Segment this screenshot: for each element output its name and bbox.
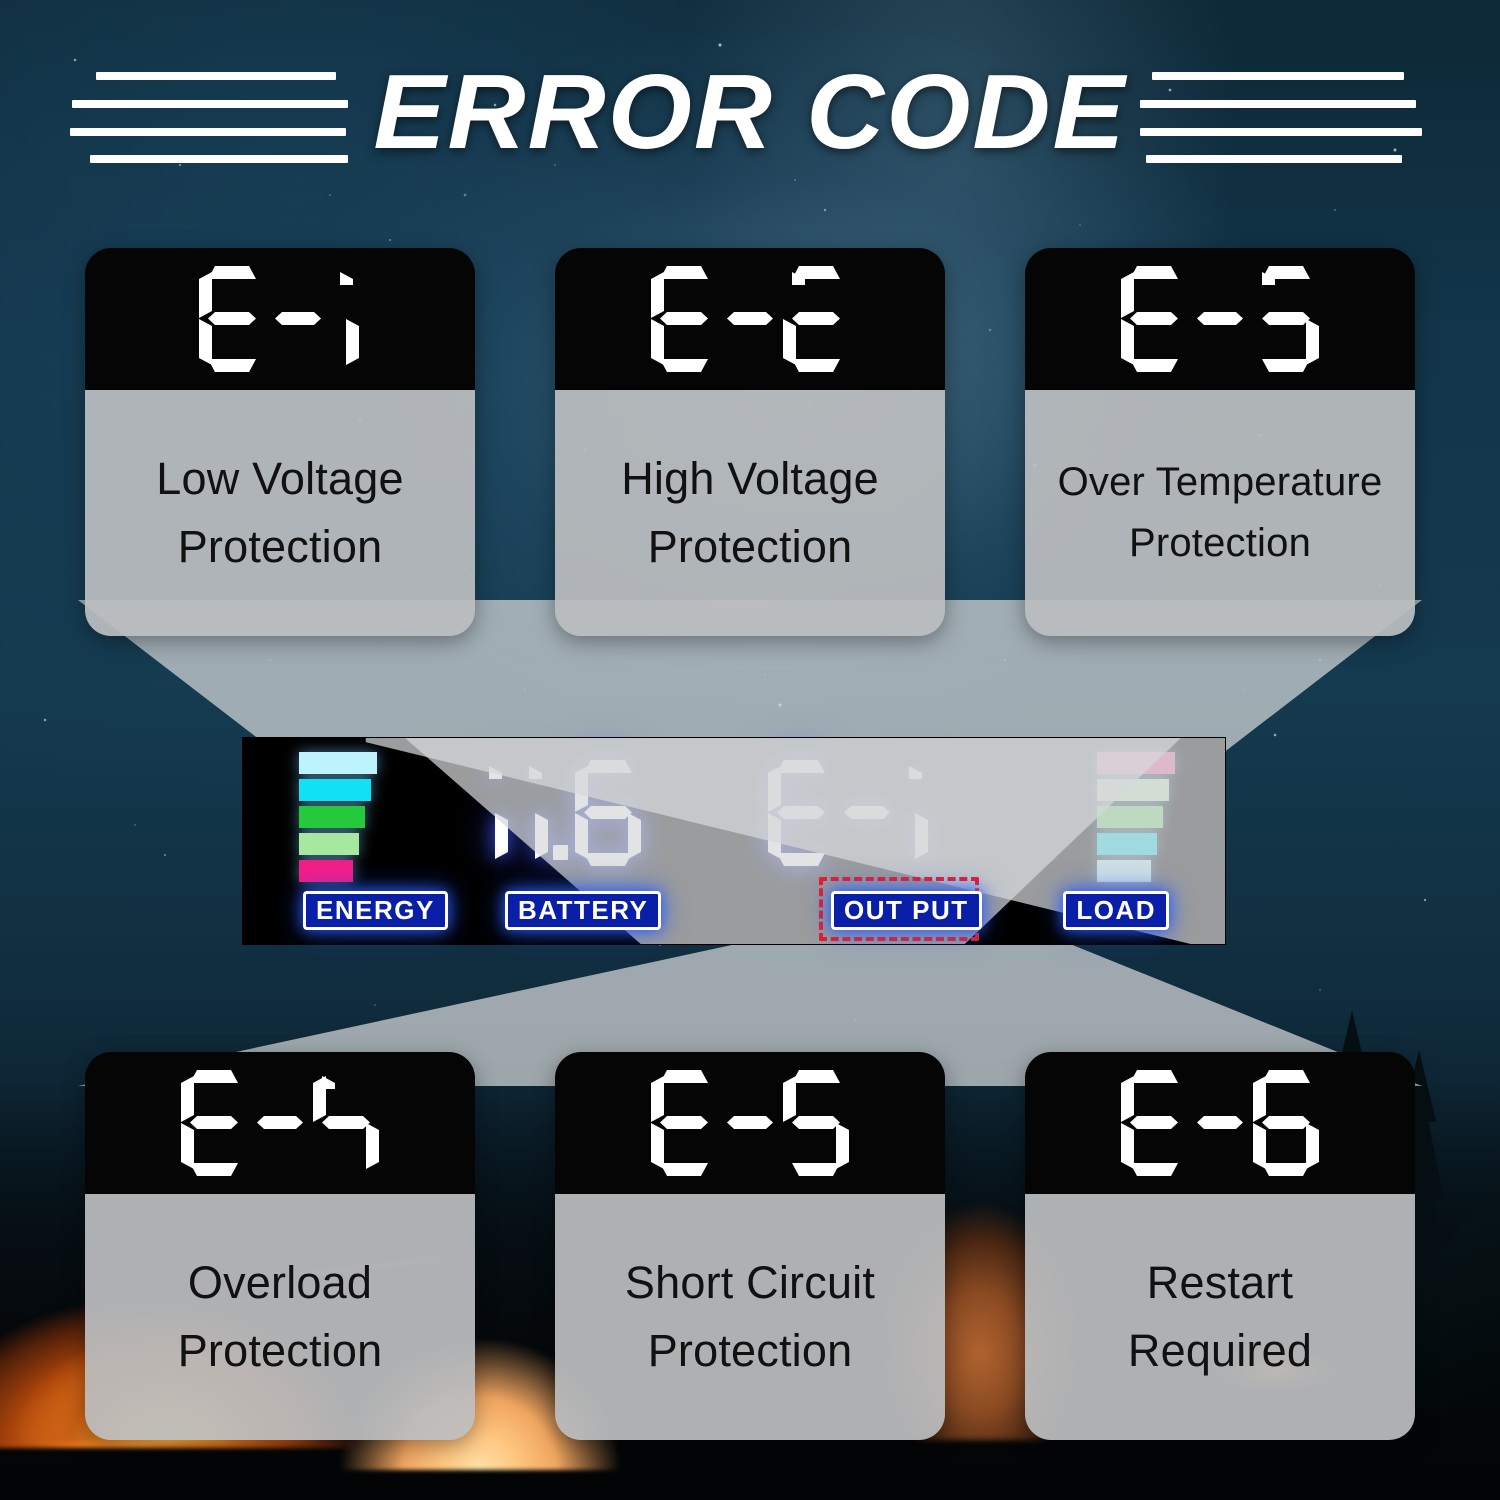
seven-segment-digit-e — [651, 1070, 717, 1176]
seven-segment-digit-dash — [275, 266, 321, 372]
load-bar — [1097, 752, 1175, 882]
error-card-description: RestartRequired — [1025, 1194, 1415, 1440]
error-card-e-6[interactable]: RestartRequired — [1025, 1052, 1415, 1440]
error-code-digits — [176, 1070, 384, 1176]
error-card-description: Short CircuitProtection — [555, 1194, 945, 1440]
error-code-digits — [194, 266, 366, 372]
error-card-line-2: Protection — [648, 1325, 853, 1377]
error-card-row-bottom: OverloadProtectionShort CircuitProtectio… — [0, 1052, 1500, 1440]
seven-segment-digit-e — [181, 1070, 247, 1176]
energy-indicator — [299, 752, 377, 882]
error-card-line-2: Protection — [178, 1325, 383, 1377]
load-bar-segment — [1097, 779, 1169, 801]
seven-segment-digit-e — [1121, 266, 1187, 372]
output-label: OUT PUT — [831, 891, 982, 930]
load-label: LOAD — [1063, 891, 1169, 930]
energy-bar-segment — [299, 860, 353, 882]
error-code-display — [555, 248, 945, 390]
seven-segment-digit-2 — [783, 266, 849, 372]
battery-label-wrap: BATTERY — [505, 891, 661, 930]
seven-segment-digit-e — [768, 760, 834, 866]
error-card-e-2[interactable]: High VoltageProtection — [555, 248, 945, 636]
error-code-digits — [1116, 1070, 1324, 1176]
battery-label: BATTERY — [505, 891, 661, 930]
page-title: ERROR CODE — [0, 52, 1500, 172]
load-bar-segment — [1097, 752, 1175, 774]
seven-segment-digit-1 — [480, 760, 510, 866]
output-error-readout — [763, 760, 935, 866]
error-card-line-2: Protection — [1129, 521, 1311, 566]
seven-segment-digit-dash — [257, 1070, 303, 1176]
seven-segment-digit-dash — [844, 760, 890, 866]
error-card-e-4[interactable]: OverloadProtection — [85, 1052, 475, 1440]
error-card-line-2: Protection — [178, 521, 383, 573]
seven-segment-digit-6 — [1253, 1070, 1319, 1176]
lcd-label-row: ENERGY BATTERY OUT PUT LOAD — [243, 888, 1225, 930]
seven-segment-digit-dash — [727, 1070, 773, 1176]
energy-label: ENERGY — [303, 891, 448, 930]
error-card-row-top: Low VoltageProtectionHigh VoltageProtect… — [0, 248, 1500, 636]
output-label-wrap: OUT PUT — [831, 891, 982, 930]
error-card-line-1: Over Temperature — [1058, 460, 1383, 505]
seven-segment-digit-1 — [900, 760, 930, 866]
header-banner: ERROR CODE — [0, 58, 1500, 176]
error-card-line-2: Protection — [648, 521, 853, 573]
seven-segment-digit-e — [1121, 1070, 1187, 1176]
error-code-display — [1025, 1052, 1415, 1194]
error-card-description: OverloadProtection — [85, 1194, 475, 1440]
energy-bar-segment — [299, 833, 359, 855]
error-card-description: High VoltageProtection — [555, 390, 945, 636]
seven-segment-digit-e — [651, 266, 717, 372]
load-bar-segment — [1097, 806, 1163, 828]
error-card-e-3[interactable]: Over TemperatureProtection — [1025, 248, 1415, 636]
energy-bar-segment — [299, 752, 377, 774]
error-code-display — [85, 1052, 475, 1194]
error-card-line-1: Short Circuit — [625, 1257, 875, 1309]
seven-segment-digit-4 — [313, 1070, 379, 1176]
error-card-e-1[interactable]: Low VoltageProtection — [85, 248, 475, 636]
load-label-wrap: LOAD — [1063, 891, 1169, 930]
load-bar-segment — [1097, 860, 1151, 882]
seven-segment-digit-1 — [331, 266, 361, 372]
load-indicator — [1097, 752, 1175, 882]
error-card-description: Over TemperatureProtection — [1025, 390, 1415, 636]
seven-segment-digit-e — [199, 266, 265, 372]
error-card-line-1: Overload — [188, 1257, 372, 1309]
energy-bar — [299, 752, 377, 882]
seven-segment-digit-5 — [783, 1070, 849, 1176]
error-code-display — [1025, 248, 1415, 390]
energy-bar-segment — [299, 806, 365, 828]
error-card-line-1: High Voltage — [621, 453, 879, 505]
error-code-digits — [646, 1070, 854, 1176]
lcd-display-panel: ENERGY BATTERY OUT PUT LOAD — [243, 738, 1225, 944]
seven-segment-digit-dash — [1197, 1070, 1243, 1176]
seven-segment-digit-3 — [1253, 266, 1319, 372]
battery-voltage-readout — [475, 760, 646, 866]
energy-label-wrap: ENERGY — [303, 891, 448, 930]
error-code-display — [555, 1052, 945, 1194]
error-card-line-2: Required — [1128, 1325, 1312, 1377]
error-card-line-1: Low Voltage — [156, 453, 403, 505]
seven-segment-digit-6 — [575, 760, 641, 866]
error-code-display — [85, 248, 475, 390]
error-code-digits — [646, 266, 854, 372]
energy-bar-segment — [299, 779, 371, 801]
load-bar-segment — [1097, 833, 1157, 855]
seven-segment-digit-dash — [727, 266, 773, 372]
seven-segment-digit-dash — [1197, 266, 1243, 372]
error-code-digits — [1116, 266, 1324, 372]
decimal-point — [553, 845, 568, 860]
error-card-line-1: Restart — [1147, 1257, 1293, 1309]
error-card-description: Low VoltageProtection — [85, 390, 475, 636]
error-card-e-5[interactable]: Short CircuitProtection — [555, 1052, 945, 1440]
seven-segment-digit-1 — [520, 760, 550, 866]
